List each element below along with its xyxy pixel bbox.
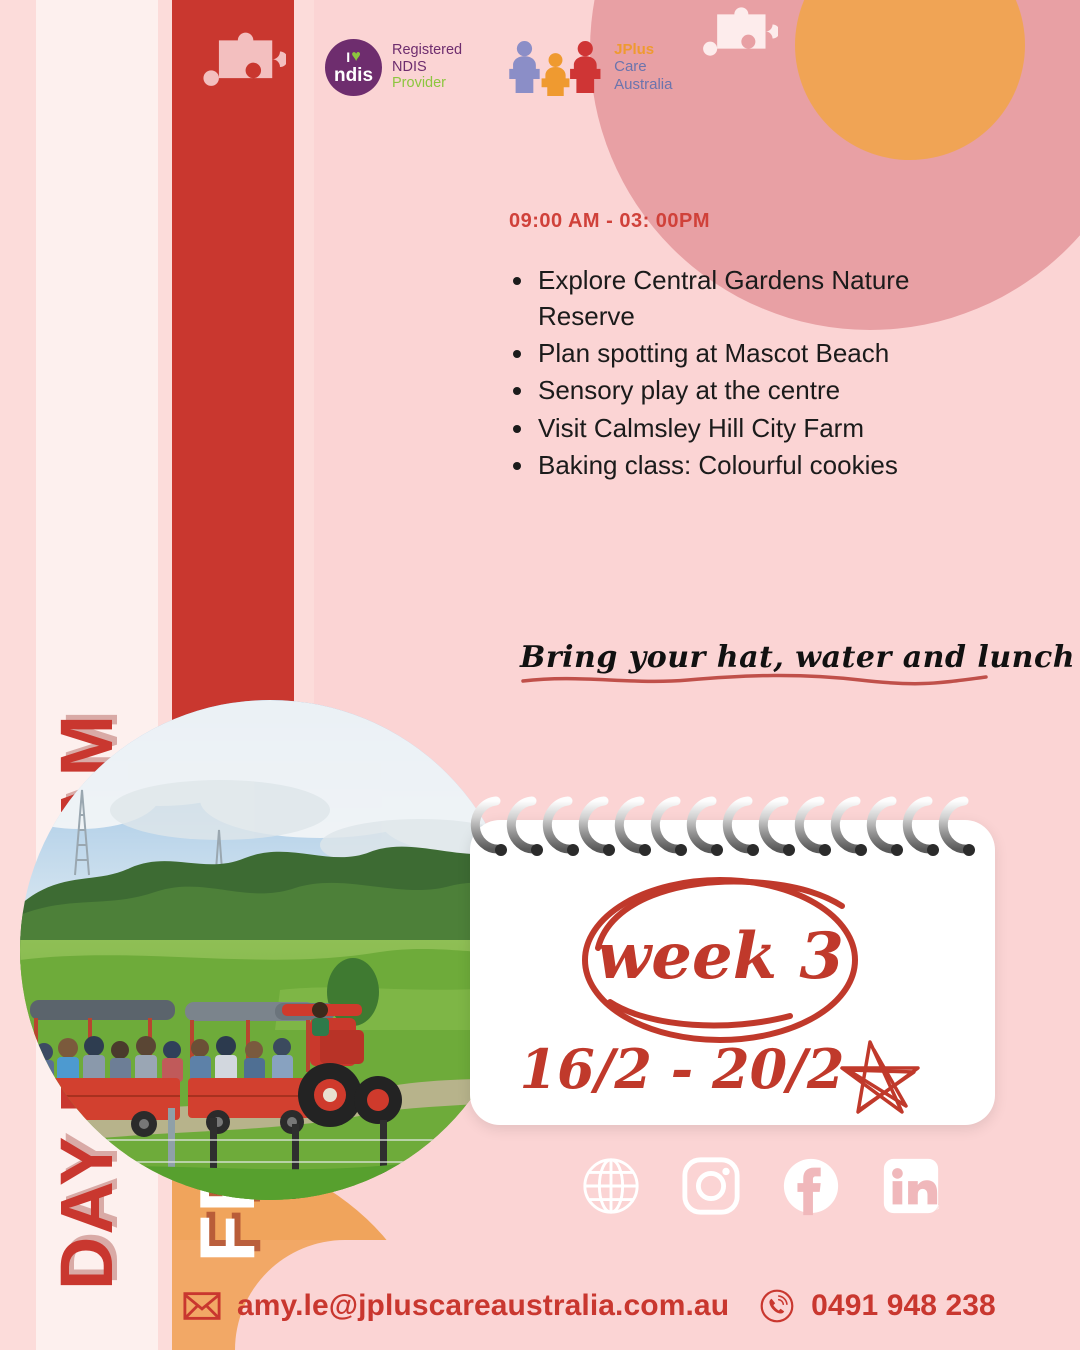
jplus-text-line-3: Australia xyxy=(614,76,672,93)
ndis-badge-word: ndis xyxy=(334,66,373,85)
ndis-text-line-1: Registered xyxy=(392,42,462,59)
stripe-pale-left xyxy=(0,0,36,1350)
contact-bar: amy.le@jpluscareaustralia.com.au 0491 94… xyxy=(183,1288,996,1324)
stripe-pale-right xyxy=(294,0,314,760)
email-icon xyxy=(183,1291,221,1321)
list-item: Baking class: Colourful cookies xyxy=(505,447,975,483)
ndis-badge-i: I xyxy=(346,50,350,64)
list-item: Sensory play at the centre xyxy=(505,372,975,408)
puzzle-piece-icon-top xyxy=(700,5,778,83)
ndis-badge: I ♥ ndis xyxy=(325,39,382,96)
list-item: Explore Central Gardens Nature Reserve xyxy=(505,262,975,334)
jplus-text-line-1: JPlus xyxy=(614,41,672,58)
svg-text:®: ® xyxy=(934,1203,939,1211)
website-icon[interactable] xyxy=(580,1155,642,1217)
list-item: Visit Calmsley Hill City Farm xyxy=(505,410,975,446)
contact-phone[interactable]: 0491 948 238 xyxy=(811,1289,996,1323)
farm-photo xyxy=(20,700,520,1200)
puzzle-piece-icon xyxy=(200,30,286,116)
ndis-badge-top: I ♥ xyxy=(346,49,360,65)
social-links: ® xyxy=(580,1155,942,1217)
facebook-icon[interactable] xyxy=(780,1155,842,1217)
activity-list: Explore Central Gardens Nature Reserve P… xyxy=(505,262,975,484)
phone-icon xyxy=(759,1288,795,1324)
ndis-text-line-3: Provider xyxy=(392,75,462,92)
ndis-logo-text: Registered NDIS Provider xyxy=(392,42,462,93)
poster-canvas: DAY PROGRAM FEBRUARY I ♥ ndis Registered… xyxy=(0,0,1080,1350)
date-range-label: 16/2 - 20/2 xyxy=(520,1037,845,1101)
reminder-note: Bring your hat, water and lunch xyxy=(520,640,1000,687)
jplus-care-australia-logo: JPlus Care Australia xyxy=(508,38,672,96)
ndis-text-line-2: NDIS xyxy=(392,59,462,76)
notepad-handwriting: week 3 16/2 - 20/2 xyxy=(470,820,995,1125)
jplus-text-line-2: Care xyxy=(614,58,672,75)
contact-email[interactable]: amy.le@jpluscareaustralia.com.au xyxy=(237,1289,729,1323)
instagram-icon[interactable] xyxy=(680,1155,742,1217)
linkedin-icon[interactable]: ® xyxy=(880,1155,942,1217)
ndis-registered-provider-logo: I ♥ ndis Registered NDIS Provider xyxy=(325,39,462,96)
farm-tractor-hayride-image xyxy=(20,700,520,1200)
week-label: week 3 xyxy=(596,919,844,994)
logo-row: I ♥ ndis Registered NDIS Provider xyxy=(325,38,672,96)
heart-icon: ♥ xyxy=(351,49,361,65)
jplus-people-icon xyxy=(508,38,603,96)
program-time-range: 09:00 AM - 03: 00PM xyxy=(509,210,710,233)
reminder-text: Bring your hat, water and lunch xyxy=(520,640,1000,675)
list-item: Plan spotting at Mascot Beach xyxy=(505,335,975,371)
jplus-logo-text: JPlus Care Australia xyxy=(614,41,672,93)
